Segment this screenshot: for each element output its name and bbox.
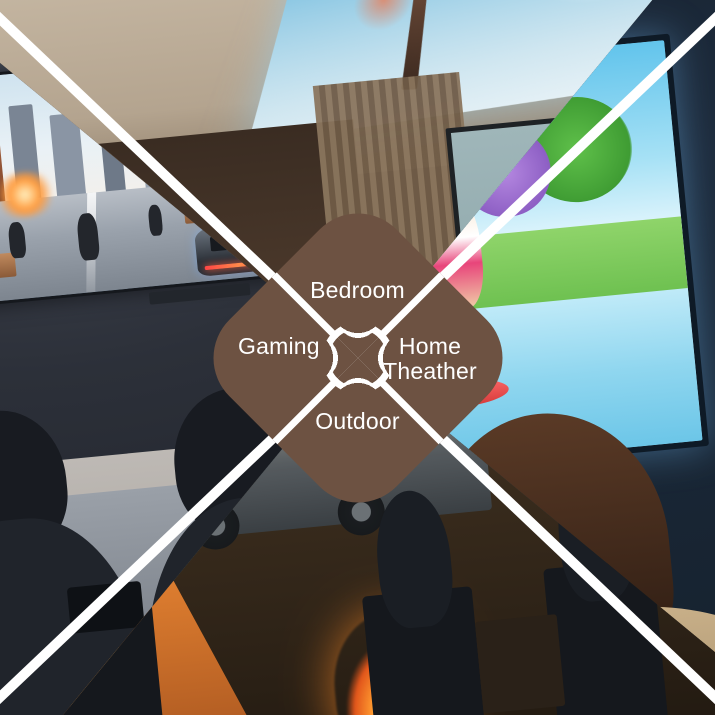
badge-label-home-theater[interactable]: Home Theather <box>382 334 478 384</box>
game-controller <box>67 581 144 634</box>
badge-label-outdoor[interactable]: Outdoor <box>315 409 400 434</box>
camp-table <box>475 614 566 713</box>
badge-label-home-theater-line2: Theather <box>383 358 477 384</box>
badge-label-home-theater-line1: Home <box>399 333 461 359</box>
badge-label-gaming[interactable]: Gaming <box>238 334 320 359</box>
badge-label-bedroom[interactable]: Bedroom <box>310 278 405 303</box>
collage-canvas: Bedroom Gaming Home Theather Outdoor <box>0 0 715 715</box>
